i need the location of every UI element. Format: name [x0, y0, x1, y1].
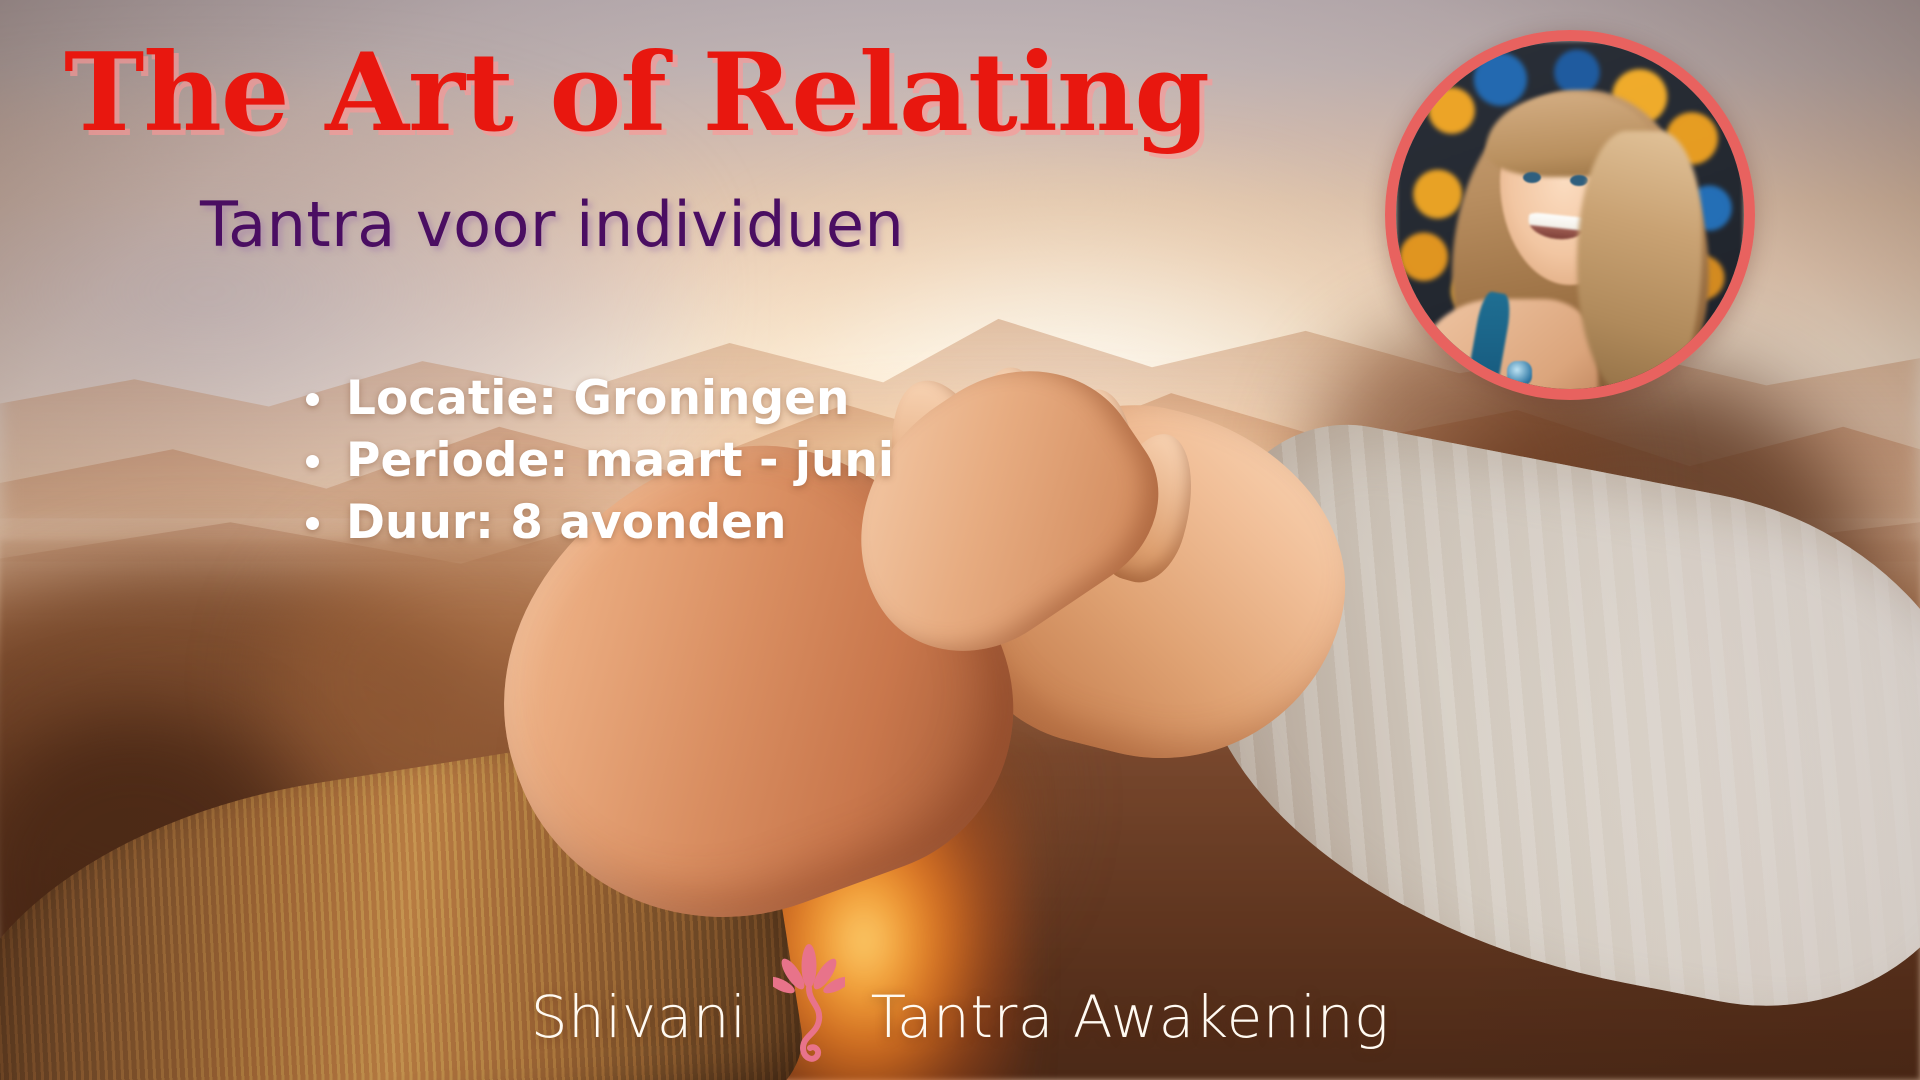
- avatar-pendant: [1507, 361, 1531, 385]
- logo-brand: Tantra Awakening: [871, 983, 1390, 1051]
- lotus-icon: [773, 944, 845, 1074]
- page-subtitle: Tantra voor individuen: [200, 188, 904, 261]
- list-item: Periode: maart - juni: [300, 430, 894, 492]
- logo-name: Shivani: [531, 983, 747, 1051]
- avatar-hair-front: [1577, 131, 1702, 400]
- detail-list: Locatie: Groningen Periode: maart - juni…: [300, 368, 894, 554]
- poster-canvas: The Art of Relating Tantra voor individu…: [0, 0, 1920, 1080]
- avatar[interactable]: [1385, 30, 1755, 400]
- list-item: Duur: 8 avonden: [300, 492, 894, 554]
- avatar-eye: [1523, 172, 1541, 183]
- page-title: The Art of Relating: [64, 38, 1209, 148]
- brand-logo[interactable]: Shivani Tantra Awakening: [0, 960, 1920, 1074]
- list-item: Locatie: Groningen: [300, 368, 894, 430]
